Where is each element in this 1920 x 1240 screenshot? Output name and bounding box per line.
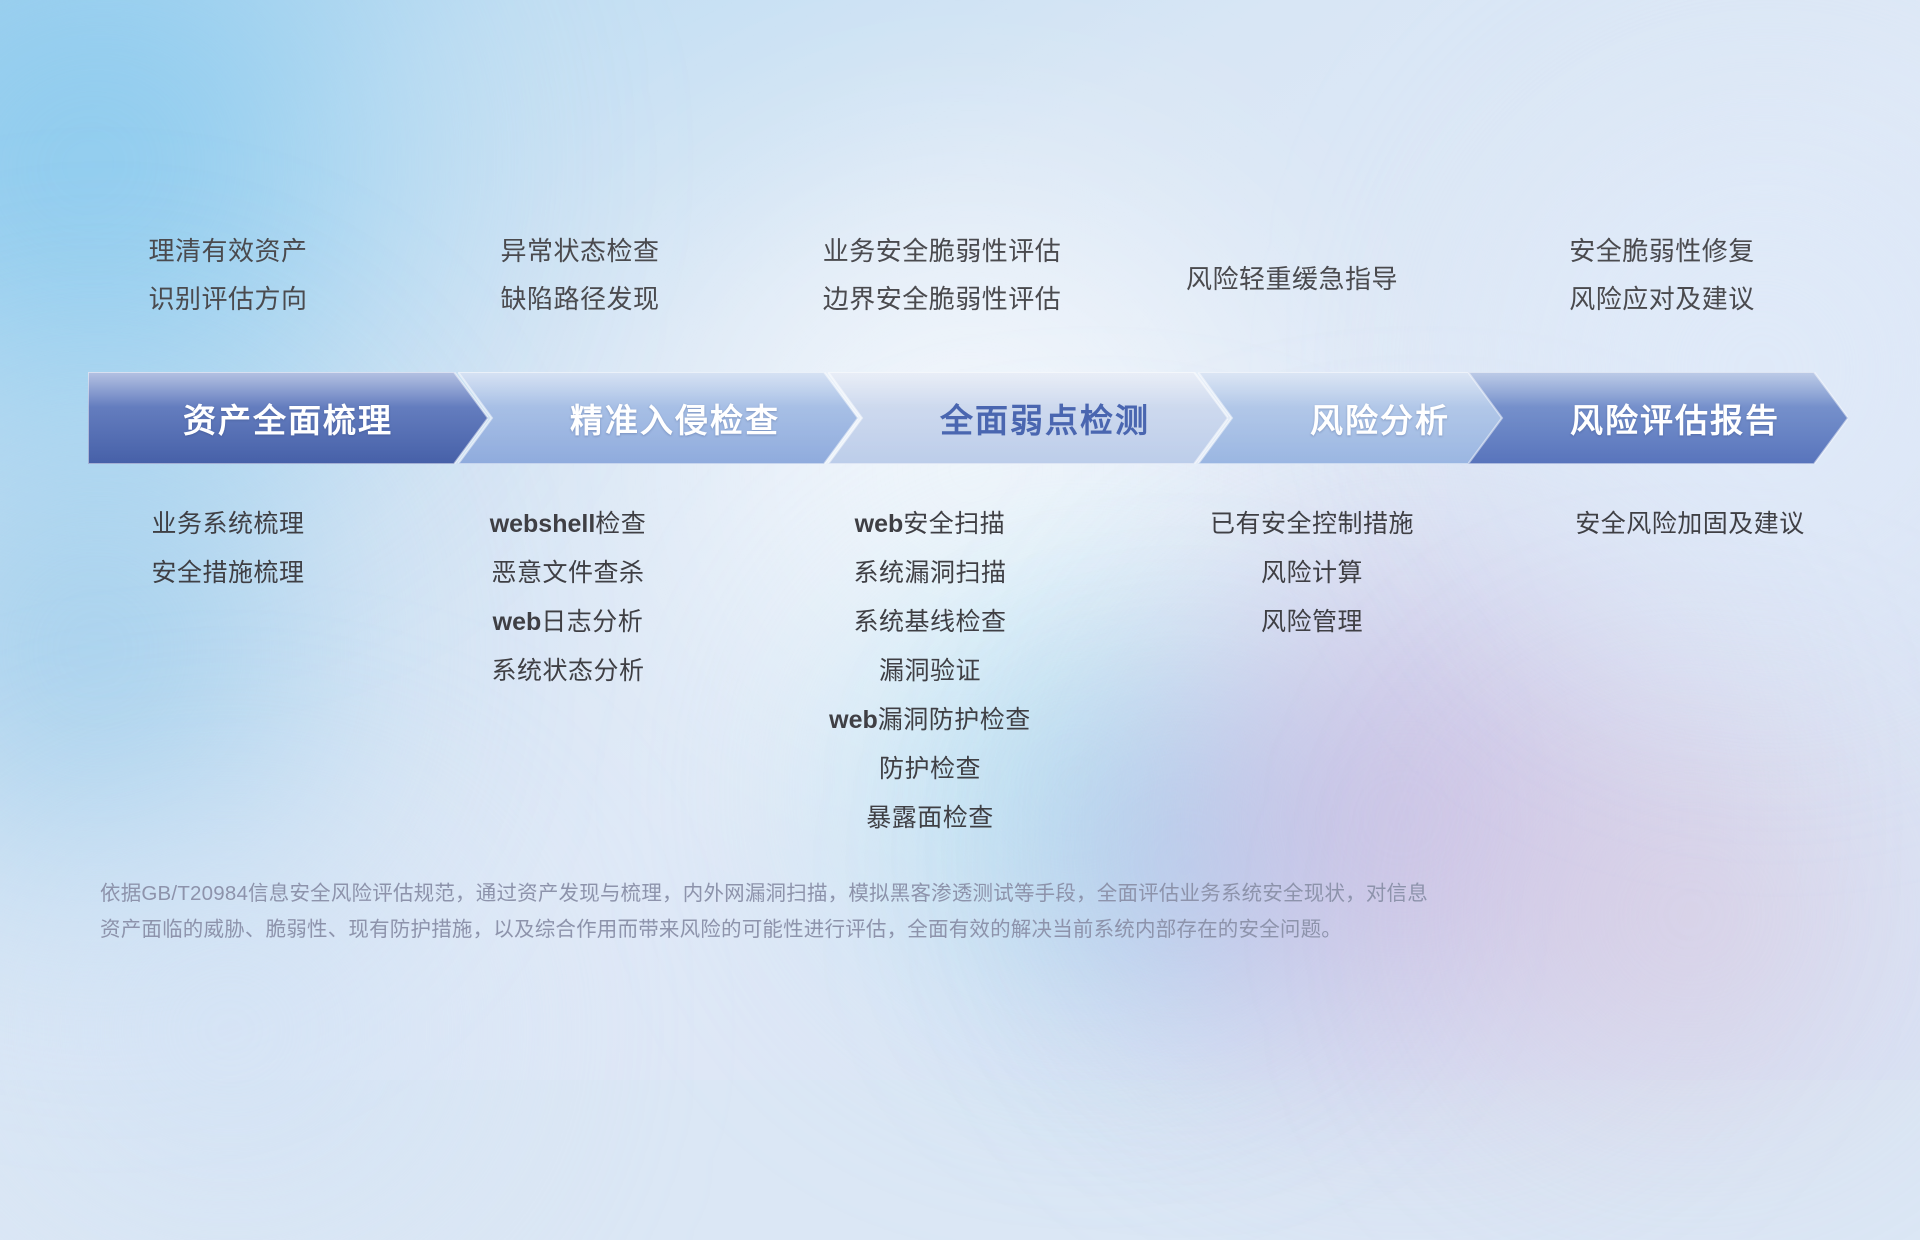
footer-line-1: 依据GB/T20984信息安全风险评估规范，通过资产发现与梳理，内外网漏洞扫描，…: [100, 876, 1640, 912]
bottom-item: 漏洞验证: [630, 659, 1230, 684]
stage-chevron-label: 精准入侵检查: [570, 394, 780, 442]
stage-chevron-intrusion-check[interactable]: 精准入侵检查: [458, 372, 858, 464]
stage-chevron-label: 风险评估报告: [1570, 394, 1780, 442]
bottom-item-cjk: 漏洞防护检查: [878, 706, 1031, 734]
bottom-item-cjk: 风险计算: [1261, 559, 1363, 587]
bottom-item: 暴露面检查: [630, 806, 1230, 831]
footer-description: 依据GB/T20984信息安全风险评估规范，通过资产发现与梳理，内外网漏洞扫描，…: [100, 876, 1640, 948]
stage-chevron-label: 风险分析: [1310, 394, 1450, 442]
bottom-item-cjk: 安全风险加固及建议: [1575, 510, 1805, 538]
bottom-item-cjk: 风险管理: [1261, 608, 1363, 636]
bottom-item-latin: web: [829, 706, 878, 734]
top-item: 安全脆弱性修复: [1362, 238, 1920, 264]
bottom-item-cjk: 恶意文件查杀: [491, 559, 644, 587]
bottom-item-latin: web: [855, 510, 904, 538]
bottom-items-assessment-report: 安全风险加固及建议: [1390, 512, 1920, 537]
bottom-item: 风险计算: [1012, 561, 1612, 586]
bottom-item: web漏洞防护检查: [630, 708, 1230, 733]
stage-chevron-label: 全面弱点检测: [940, 394, 1150, 442]
bottom-item: 风险管理: [1012, 610, 1612, 635]
bottom-item-latin: web: [493, 608, 542, 636]
stage-chevron-label: 资产全面梳理: [183, 394, 393, 442]
top-item: 业务安全脆弱性评估: [642, 238, 1242, 264]
bottom-item-cjk: 防护检查: [879, 755, 981, 783]
footer-line-2: 资产面临的威胁、脆弱性、现有防护措施，以及综合作用而带来风险的可能性进行评估，全…: [100, 912, 1640, 948]
stage-chevron-assessment-report[interactable]: 风险评估报告: [1468, 372, 1848, 464]
bottom-item-cjk: 安全扫描: [903, 510, 1005, 538]
stage-chevron-asset-inventory[interactable]: 资产全面梳理: [88, 372, 488, 464]
bottom-item-cjk: 日志分析: [541, 608, 643, 636]
bottom-item-cjk: 系统漏洞扫描: [853, 559, 1006, 587]
bottom-item-cjk: 已有安全控制措施: [1210, 510, 1414, 538]
stage-chevron-weakness-detection[interactable]: 全面弱点检测: [828, 372, 1228, 464]
top-items-assessment-report: 安全脆弱性修复风险应对及建议: [1362, 238, 1920, 312]
bottom-item: 安全风险加固及建议: [1390, 512, 1920, 537]
bottom-item: 防护检查: [630, 757, 1230, 782]
bottom-item-latin: webshell: [490, 510, 596, 538]
process-arrow-banner: 资产全面梳理 精准入侵检查: [88, 372, 1848, 464]
bottom-item-cjk: 系统状态分析: [491, 657, 644, 685]
bottom-item-cjk: 漏洞验证: [879, 657, 981, 685]
bottom-item-cjk: 暴露面检查: [866, 804, 994, 832]
bottom-item-cjk: 系统基线检查: [853, 608, 1006, 636]
top-item: 风险应对及建议: [1362, 286, 1920, 312]
